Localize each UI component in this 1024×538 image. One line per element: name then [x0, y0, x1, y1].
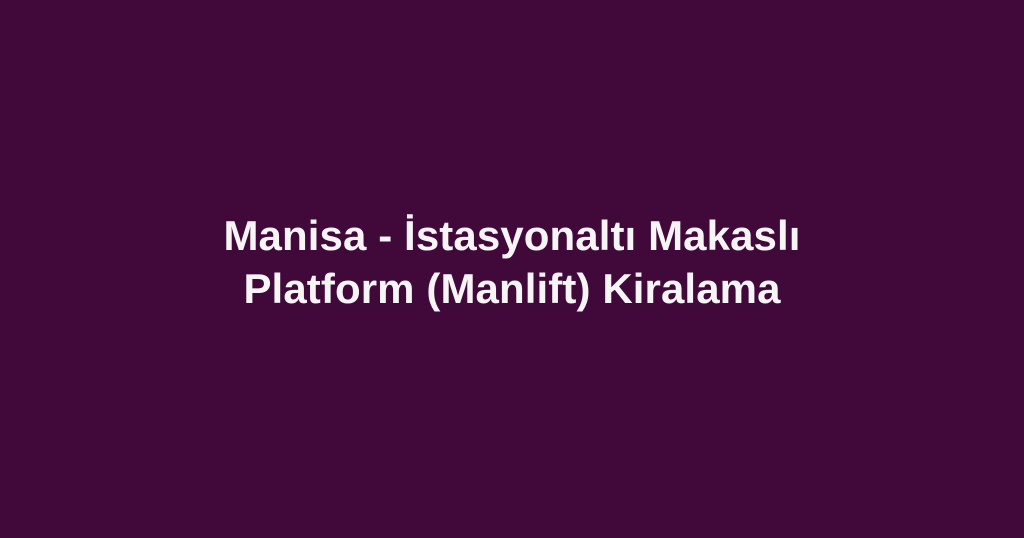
share-card: Manisa - İstasyonaltı Makaslı Platform (… — [0, 0, 1024, 538]
page-title-line-2: Platform (Manlift) Kiralama — [132, 262, 892, 315]
page-title-line-1: Manisa - İstasyonaltı Makaslı — [132, 209, 892, 262]
page-title: Manisa - İstasyonaltı Makaslı Platform (… — [132, 209, 892, 315]
